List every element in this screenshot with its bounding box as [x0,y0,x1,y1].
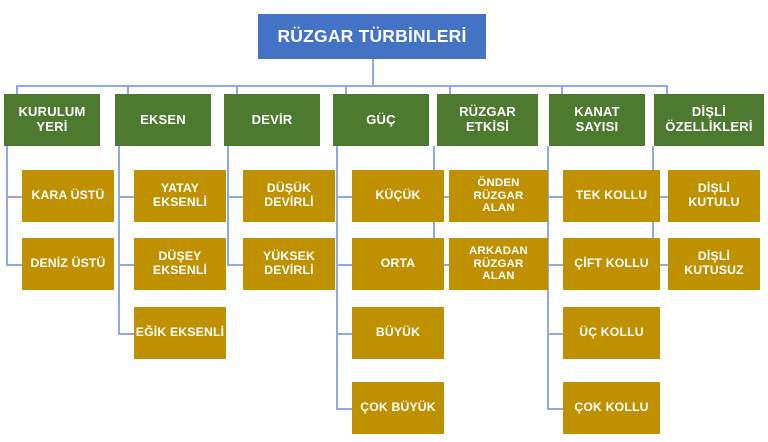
connector-line [666,85,668,94]
connector-line [6,146,8,264]
connector-line [561,85,563,94]
category-node-eksen[interactable]: EKSEN [115,94,211,146]
category-node-kurulum-yeri[interactable]: KURULUM YERİ [4,94,100,146]
connector-line [336,264,352,266]
connector-line [547,196,563,198]
category-node-devir[interactable]: DEVİR [224,94,320,146]
connector-line [336,196,352,198]
connector-line [118,264,134,266]
category-node-güç[interactable]: GÜÇ [333,94,429,146]
connector-line [227,196,243,198]
connector-line [118,146,120,333]
connector-line [6,196,22,198]
connector-line [127,85,129,94]
connector-line [336,333,352,335]
connector-line [227,264,243,266]
connector-line [236,85,238,94]
connector-line [547,408,563,410]
leaf-node-yüksek-devirli[interactable]: YÜKSEK DEVİRLİ [243,238,335,290]
connector-line [449,85,451,94]
leaf-node-tek-kollu[interactable]: TEK KOLLU [563,170,660,222]
connector-line [16,85,18,94]
connector-line [547,333,563,335]
leaf-node-kara-üstü[interactable]: KARA ÜSTÜ [22,170,114,222]
connector-line [336,146,338,408]
connector-line [16,85,666,87]
leaf-node-dişli-kutulu[interactable]: DİŞLİ KUTULU [668,170,760,222]
leaf-node-çok-kollu[interactable]: ÇOK KOLLU [563,382,660,434]
connector-line [6,264,22,266]
leaf-node-büyük[interactable]: BÜYÜK [352,307,444,359]
connector-line [118,333,134,335]
connector-line [547,264,563,266]
connector-line [118,196,134,198]
leaf-node-küçük[interactable]: KÜÇÜK [352,170,444,222]
leaf-node-orta[interactable]: ORTA [352,238,444,290]
leaf-node-çift-kollu[interactable]: ÇİFT KOLLU [563,238,660,290]
connector-line [227,146,229,264]
category-node-kanat-sayisi[interactable]: KANAT SAYISI [549,94,645,146]
leaf-node-arkadan-rüzgar-alan[interactable]: ARKADAN RÜZGAR ALAN [449,238,548,290]
connector-line [336,408,352,410]
connector-line [345,85,347,94]
connector-line [372,59,374,85]
category-node-dişli-özellikleri[interactable]: DİŞLİ ÖZELLİKLERİ [654,94,764,146]
root-node[interactable]: RÜZGAR TÜRBİNLERİ [258,14,486,59]
leaf-node-çok-büyük[interactable]: ÇOK BÜYÜK [352,382,444,434]
leaf-node-düşey-eksenli[interactable]: DÜŞEY EKSENLİ [134,238,226,290]
leaf-node-önden-rüzgar-alan[interactable]: ÖNDEN RÜZGAR ALAN [449,170,548,222]
leaf-node-düşük-devirli[interactable]: DÜŞÜK DEVİRLİ [243,170,335,222]
diagram-canvas: RÜZGAR TÜRBİNLERİKURULUM YERİKARA ÜSTÜDE… [0,0,768,442]
leaf-node-dişli-kutusuz[interactable]: DİŞLİ KUTUSUZ [668,238,760,290]
leaf-node-eğik-eksenli[interactable]: EĞİK EKSENLİ [134,307,226,359]
category-node-rüzgar-etkisi[interactable]: RÜZGAR ETKİSİ [437,94,538,146]
leaf-node-yatay-eksenli[interactable]: YATAY EKSENLİ [134,170,226,222]
leaf-node-üç-kollu[interactable]: ÜÇ KOLLU [563,307,660,359]
leaf-node-deniz-üstü[interactable]: DENİZ ÜSTÜ [22,238,114,290]
